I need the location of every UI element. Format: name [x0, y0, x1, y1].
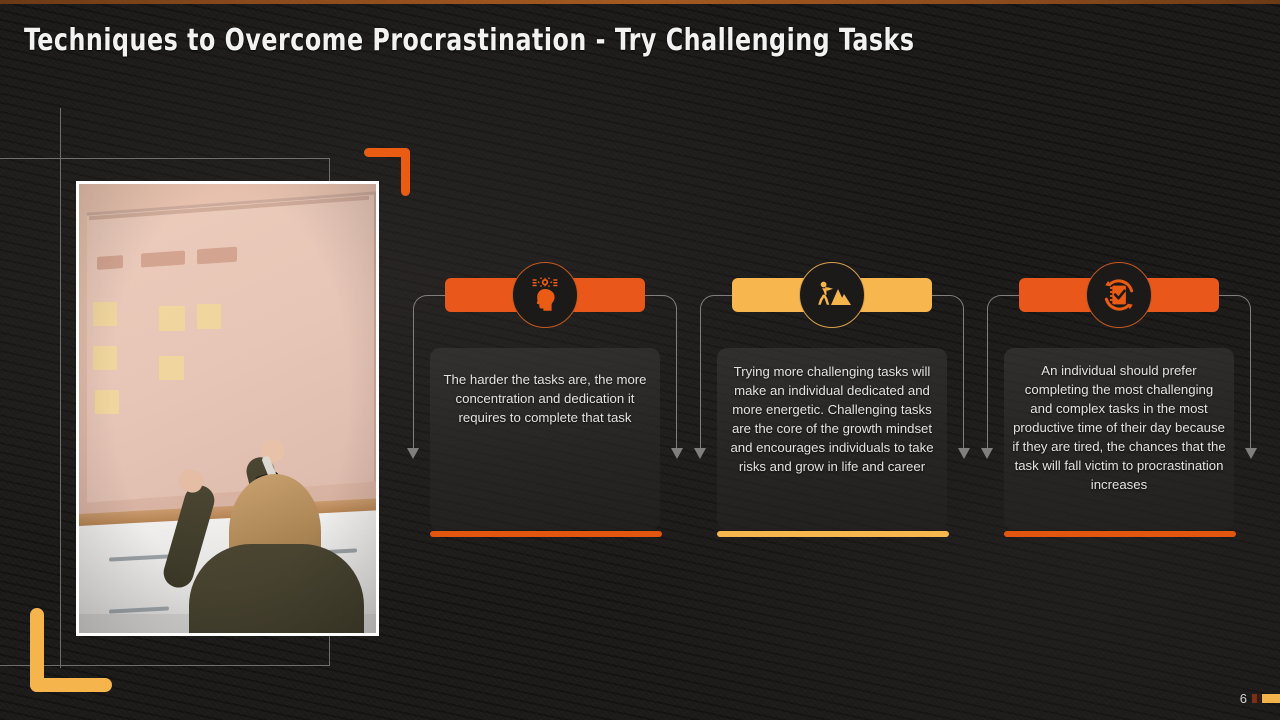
ribbon-left	[1019, 278, 1093, 312]
page-bar-segment	[1252, 694, 1257, 703]
card-icon-badge	[1019, 262, 1219, 328]
page-bar-segment	[1258, 694, 1261, 703]
head-gear-thinking-icon	[512, 262, 578, 328]
page-indicator-bars	[1252, 694, 1280, 703]
card-description: Trying more challenging tasks will make …	[721, 362, 943, 476]
card-text-panel: Trying more challenging tasks will make …	[717, 348, 947, 530]
card-accent-bar	[430, 531, 662, 537]
checklist-refresh-icon	[1086, 262, 1152, 328]
top-accent-rule	[0, 0, 1280, 4]
page-title: Techniques to Overcome Procrastination -…	[24, 23, 992, 58]
ribbon-left	[732, 278, 806, 312]
technique-card[interactable]: Trying more challenging tasks will make …	[697, 262, 967, 546]
card-text-panel: An individual should prefer completing t…	[1004, 348, 1234, 530]
bracket-horizontal-bar	[30, 678, 112, 692]
card-arrow-left-icon	[981, 448, 993, 459]
card-icon-badge	[732, 262, 932, 328]
mountain-climber-flag-icon	[799, 262, 865, 328]
yellow-corner-bracket	[30, 608, 112, 692]
slide-canvas: Techniques to Overcome Procrastination -…	[0, 0, 1280, 720]
card-accent-bar	[1004, 531, 1236, 537]
ribbon-right	[571, 278, 645, 312]
card-description: An individual should prefer completing t…	[1008, 361, 1230, 494]
card-description: The harder the tasks are, the more conce…	[434, 370, 656, 427]
card-arrow-left-icon	[694, 448, 706, 459]
ribbon-right	[858, 278, 932, 312]
card-accent-bar	[717, 531, 949, 537]
page-number: 6	[1240, 691, 1247, 706]
card-text-panel: The harder the tasks are, the more conce…	[430, 348, 660, 530]
photo-vignette	[79, 184, 379, 636]
orange-corner-bracket	[364, 148, 410, 196]
whiteboard-photo	[76, 181, 379, 636]
card-arrow-right-icon	[1245, 448, 1257, 459]
page-bar-segment	[1262, 694, 1280, 703]
ribbon-left	[445, 278, 519, 312]
card-icon-badge	[445, 262, 645, 328]
bracket-vertical-bar	[401, 148, 410, 196]
photo-vertical-guide-line	[60, 108, 61, 668]
card-arrow-right-icon	[671, 448, 683, 459]
card-arrow-right-icon	[958, 448, 970, 459]
technique-card[interactable]: An individual should prefer completing t…	[984, 262, 1254, 546]
ribbon-right	[1145, 278, 1219, 312]
card-arrow-left-icon	[407, 448, 419, 459]
technique-card[interactable]: The harder the tasks are, the more conce…	[410, 262, 680, 546]
